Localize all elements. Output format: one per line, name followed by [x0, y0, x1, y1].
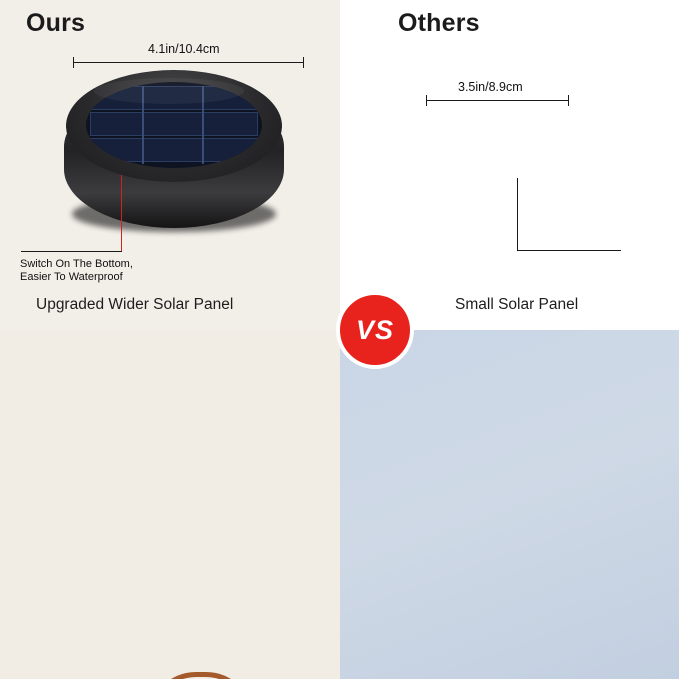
solar-cell [90, 112, 258, 136]
can-ours-top-handle [148, 672, 254, 679]
note-ours-switch: Switch On The Bottom, Easier To Waterpro… [20, 258, 133, 284]
heading-others: Others [398, 9, 480, 38]
solar-ours-gloss [94, 78, 244, 104]
leader-line-switch-others-horizontal [517, 250, 621, 251]
comparison-infographic: 4.1in/10.4cm Switch On The Bottom, Easie… [0, 0, 679, 679]
dimension-rule-others-width [426, 100, 569, 101]
leader-line-switch-others [517, 178, 518, 250]
measure-ours-panel-width: 4.1in/10.4cm [148, 42, 220, 56]
solar-cell [90, 138, 258, 162]
heading-ours: Ours [26, 9, 85, 38]
vs-badge-label: VS [356, 315, 394, 346]
solar-panel-ours-image [64, 70, 284, 240]
caption-upgraded-solar-panel: Upgraded Wider Solar Panel [36, 296, 233, 314]
panel-bottom-left: 4.1in/10.4cm 6.9in/17.5cm 5.5in/14cm Lar… [0, 330, 340, 679]
note-ours-switch-line2: Easier To Waterproof [20, 271, 133, 284]
note-ours-switch-line1: Switch On The Bottom, [20, 258, 133, 271]
leader-line-switch-ours-horizontal [21, 251, 122, 252]
measure-others-panel-width: 3.5in/8.9cm [458, 80, 523, 94]
vs-badge: VS [336, 291, 414, 369]
dimension-rule-ours-width [73, 62, 304, 63]
leader-line-switch-ours [121, 175, 122, 251]
panel-top-left: 4.1in/10.4cm Switch On The Bottom, Easie… [0, 0, 340, 330]
panel-top-right: 3.5in/8.9cm Switch At The Top, Not Easil… [340, 0, 679, 330]
panel-bottom-right: 4.1in/10.4cm 6.1in/15.5cm 4.1in/10.4cm S… [340, 330, 679, 679]
caption-small-solar-panel: Small Solar Panel [455, 296, 578, 314]
watering-can-ours-image [10, 670, 330, 679]
